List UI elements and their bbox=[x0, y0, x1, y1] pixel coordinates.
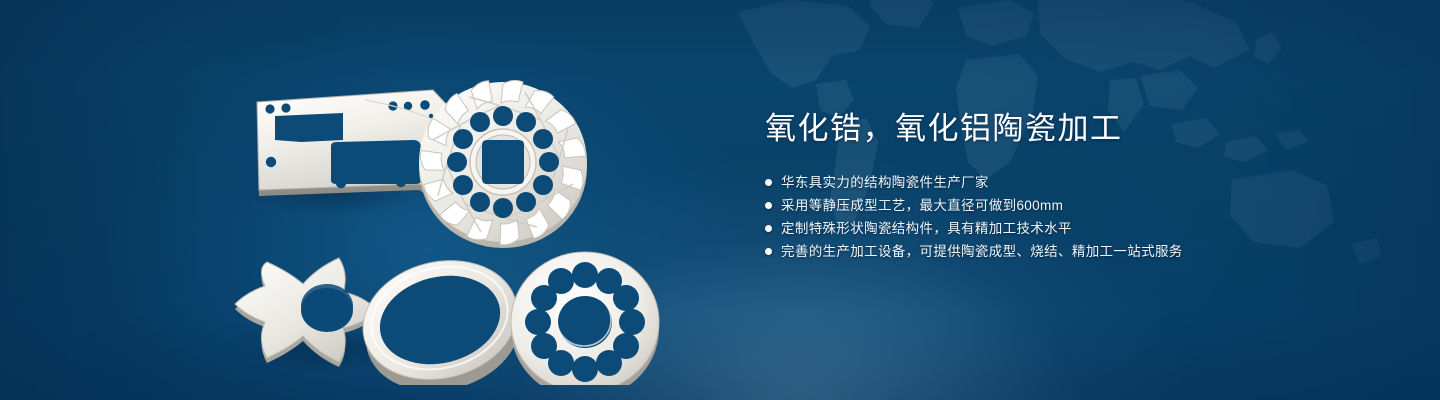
feature-text: 华东具实力的结构陶瓷件生产厂家 bbox=[781, 171, 989, 194]
feature-text: 采用等静压成型工艺，最大直径可做到600mm bbox=[781, 194, 1063, 217]
list-item: 华东具实力的结构陶瓷件生产厂家 bbox=[765, 171, 1325, 194]
ceramic-ring bbox=[350, 245, 532, 385]
bullet-dot-icon bbox=[765, 225, 772, 232]
banner-copy: 氧化锆，氧化铝陶瓷加工 华东具实力的结构陶瓷件生产厂家 采用等静压成型工艺，最大… bbox=[765, 108, 1325, 263]
bullet-dot-icon bbox=[765, 248, 772, 255]
bullet-dot-icon bbox=[765, 202, 772, 209]
list-item: 完善的生产加工设备，可提供陶瓷成型、烧结、精加工一站式服务 bbox=[765, 240, 1325, 263]
list-item: 采用等静压成型工艺，最大直径可做到600mm bbox=[765, 194, 1325, 217]
feature-text: 完善的生产加工设备，可提供陶瓷成型、烧结、精加工一站式服务 bbox=[781, 240, 1183, 263]
hero-banner: 氧化锆，氧化铝陶瓷加工 华东具实力的结构陶瓷件生产厂家 采用等静压成型工艺，最大… bbox=[0, 0, 1440, 400]
feature-text: 定制特殊形状陶瓷结构件，具有精加工技术水平 bbox=[781, 217, 1072, 240]
ceramic-products-image bbox=[215, 40, 715, 385]
feature-list: 华东具实力的结构陶瓷件生产厂家 采用等静压成型工艺，最大直径可做到600mm 定… bbox=[765, 171, 1325, 263]
list-item: 定制特殊形状陶瓷结构件，具有精加工技术水平 bbox=[765, 217, 1325, 240]
page-title: 氧化锆，氧化铝陶瓷加工 bbox=[765, 108, 1325, 150]
ceramic-perforated-disc bbox=[511, 252, 659, 385]
bullet-dot-icon bbox=[765, 179, 772, 186]
